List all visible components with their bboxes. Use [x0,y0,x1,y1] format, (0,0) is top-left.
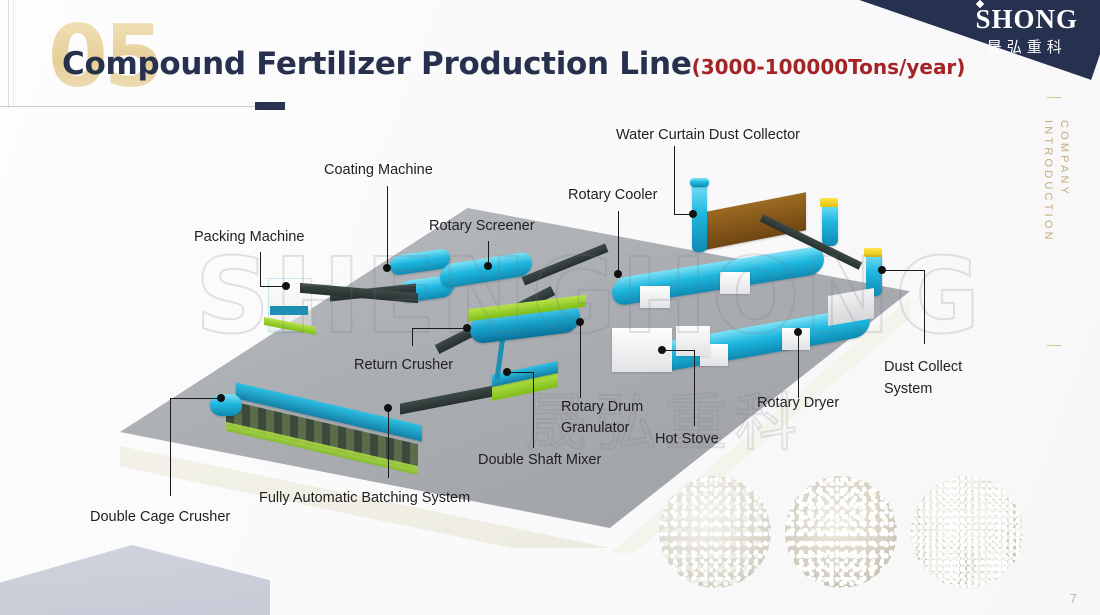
marker-rotary-drum-granulator [576,318,584,326]
leader-return-crusher-v [412,328,413,346]
slide-canvas: SHONG 晟弘重科 05 Compound Fertilizer Produc… [0,0,1100,615]
logo-wordmark: SHONG [975,6,1078,33]
marker-dust-collect [878,266,886,274]
leader-double-cage-crusher-v [170,398,171,496]
granule-photo-2-texture [785,476,897,588]
label-double-shaft-mixer: Double Shaft Mixer [478,451,601,470]
fertilizer-granule-photo-3 [911,476,1023,588]
label-return-crusher: Return Crusher [354,356,453,375]
leader-rotary-cooler-v [618,211,619,273]
leader-rotary-drum-granulator-v [580,322,581,398]
rotary-cooler-support-1 [640,286,670,308]
leader-packing-machine-v [260,252,261,286]
leader-water-curtain-v [674,146,675,214]
leader-rotary-dryer-v [798,332,799,398]
label-rotary-drum-granulator-line1: Rotary Drum [561,398,643,417]
label-rotary-dryer: Rotary Dryer [757,394,839,413]
label-dust-collect-system-line1: Dust Collect [884,358,962,377]
page-title-main: Compound Fertilizer Production Line [62,46,692,82]
leader-hot-stove-v [694,350,695,426]
marker-rotary-dryer [794,328,802,336]
label-dust-collect-system-line2: System [884,380,932,399]
marker-batching-system [384,404,392,412]
logo-chinese-name: 晟弘重科 [975,36,1078,57]
marker-return-crusher [463,324,471,332]
dust-collect-cyclone-1 [822,202,838,246]
marker-packing-machine [282,282,290,290]
label-packing-machine: Packing Machine [194,228,304,247]
hot-stove-unit [706,192,806,249]
label-double-cage-crusher: Double Cage Crusher [90,508,230,527]
left-edge-rule [8,0,9,108]
label-rotary-cooler: Rotary Cooler [568,186,657,205]
label-rotary-screener: Rotary Screener [429,217,535,236]
left-edge-rule-2 [13,0,14,108]
page-title: Compound Fertilizer Production Line(3000… [62,46,965,82]
marker-rotary-screener [484,262,492,270]
leader-return-crusher-h [412,328,466,329]
fertilizer-granule-photo-2 [785,476,897,588]
marker-double-shaft-mixer [503,368,511,376]
leader-dust-collect-v [924,270,925,344]
marker-double-cage-crusher [217,394,225,402]
page-title-capacity: (3000-100000Tons/year) [692,55,966,79]
packing-machine-frame [270,306,308,315]
label-hot-stove: Hot Stove [655,430,719,449]
header-underline [0,106,258,107]
hot-stove-building-2 [676,326,710,356]
dust-collect-valve-1 [820,198,838,207]
leader-double-shaft-mixer-h [507,372,534,373]
leader-coating-machine-v [387,186,388,268]
fertilizer-granule-photo-1 [659,476,771,588]
dust-collect-valve-2 [864,248,882,257]
side-rule-top [1047,97,1061,98]
leader-dust-collect-h [884,270,925,271]
marker-coating-machine [383,264,391,272]
page-number: 7 [1070,591,1077,606]
label-water-curtain-dust-collector: Water Curtain Dust Collector [616,126,800,145]
marker-rotary-cooler [614,270,622,278]
logo-initial: S [975,6,991,33]
leader-double-cage-crusher-h [170,398,220,399]
label-fully-automatic-batching-system: Fully Automatic Batching System [259,489,470,508]
header-accent-dash [255,102,285,110]
label-coating-machine: Coating Machine [324,161,433,180]
granule-photo-1-texture [659,476,771,588]
logo-brand: HONG [991,4,1078,34]
marker-water-curtain [689,210,697,218]
granule-photo-3-texture [911,476,1023,588]
marker-hot-stove [658,346,666,354]
leader-packing-machine-h [260,286,284,287]
rotary-cooler-support-2 [720,272,750,294]
dust-collector-stack-cap [690,178,709,187]
leader-batching-system-v [388,408,389,478]
leader-hot-stove-h [664,350,695,351]
company-logo: SHONG 晟弘重科 [975,6,1078,57]
leader-double-shaft-mixer-v [533,372,534,448]
label-rotary-drum-granulator-line2: Granulator [561,419,630,438]
